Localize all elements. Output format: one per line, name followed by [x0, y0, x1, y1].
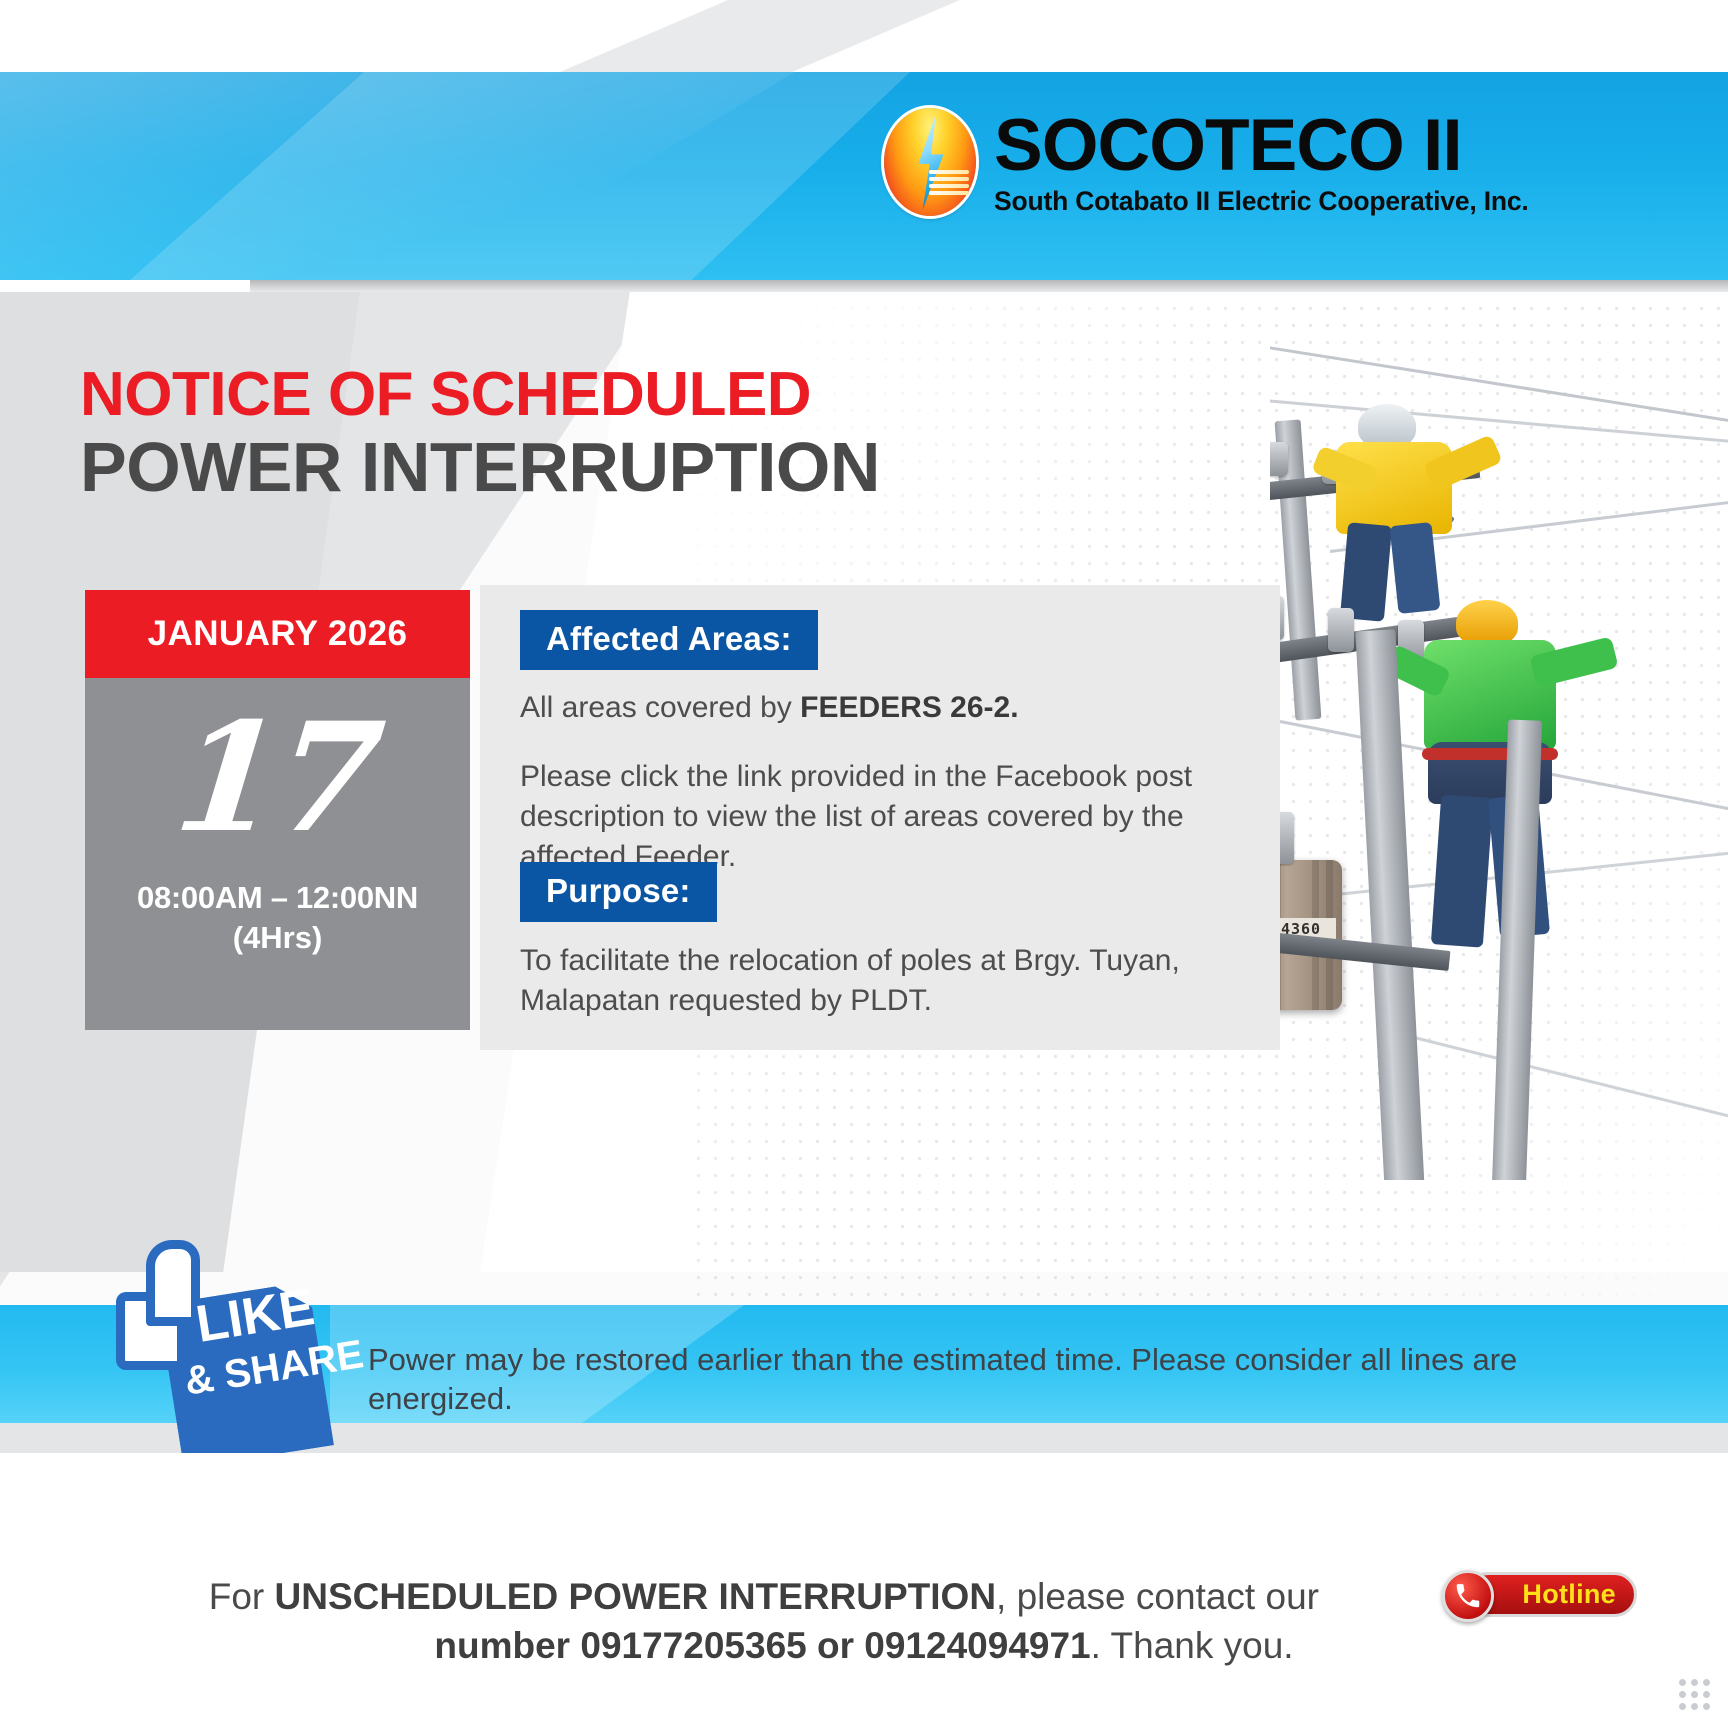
footer-bold-unscheduled: UNSCHEDULED POWER INTERRUPTION: [275, 1576, 997, 1617]
affected-areas-text: All areas covered by FEEDERS 26-2.: [520, 688, 1260, 728]
purpose-badge: Purpose:: [520, 862, 717, 922]
date-card-body: 17 08:00AM – 12:00NN (4Hrs): [85, 678, 470, 1030]
brand-logo: SOCOTECO II South Cotabato II Electric C…: [884, 108, 1529, 216]
page-title-line-2: POWER INTERRUPTION: [80, 432, 880, 502]
footer-mid: , please contact our: [996, 1576, 1329, 1617]
lineman-worker-yellow: [1310, 404, 1510, 614]
restoration-notice-text: Power may be restored earlier than the e…: [368, 1340, 1618, 1419]
purpose-text: To facilitate the relocation of poles at…: [520, 941, 1260, 1021]
footer-prefix: For: [209, 1576, 275, 1617]
header-shadow: [0, 280, 1728, 292]
footer-suffix: . Thank you.: [1091, 1625, 1294, 1666]
decorative-dots: [1679, 1679, 1710, 1710]
date-time-range: 08:00AM – 12:00NN: [137, 880, 418, 916]
date-card: JANUARY 2026 17 08:00AM – 12:00NN (4Hrs): [85, 590, 470, 1030]
affected-areas-feeder: FEEDERS 26-2.: [800, 691, 1018, 724]
footer-bold-numbers: number 09177205365 or 09124094971: [434, 1625, 1090, 1666]
hotline-badge[interactable]: Hotline: [1442, 1570, 1637, 1620]
brand-subtitle: South Cotabato II Electric Cooperative, …: [994, 188, 1529, 215]
date-day-number: 17: [169, 700, 386, 858]
date-month-label: JANUARY 2026: [148, 614, 408, 654]
lightning-bolt-logo-icon: [884, 108, 976, 216]
lineman-photo: 04360: [1270, 300, 1728, 1180]
power-interruption-notice-poster: SOCOTECO II South Cotabato II Electric C…: [0, 0, 1728, 1728]
information-panel: Affected Areas: All areas covered by FEE…: [480, 585, 1280, 1050]
hotline-label: Hotline: [1522, 1579, 1616, 1610]
affected-areas-prefix: All areas covered by: [520, 691, 800, 724]
affected-areas-note: Please click the link provided in the Fa…: [520, 757, 1260, 877]
date-duration: (4Hrs): [233, 920, 323, 956]
phone-icon: [1442, 1570, 1494, 1622]
affected-areas-badge: Affected Areas:: [520, 610, 818, 670]
page-title-line-1: NOTICE OF SCHEDULED: [80, 364, 811, 426]
date-month-header: JANUARY 2026: [85, 590, 470, 678]
brand-name: SOCOTECO II: [994, 109, 1529, 182]
